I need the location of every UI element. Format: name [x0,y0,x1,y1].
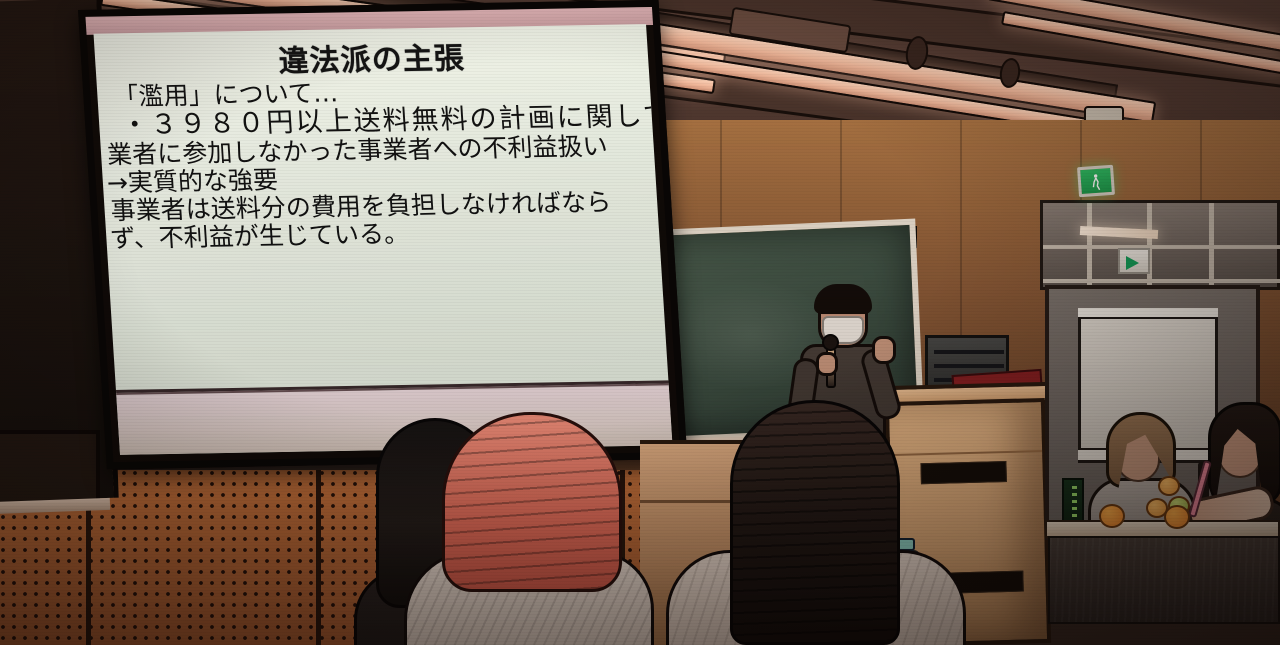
presenter-hair [814,284,872,314]
slide-surface: 違法派の主張 「濫用」について… ・３９８０円以上送料無料の計画に関して事 業者… [94,24,673,455]
orange-fruit-icon [1099,504,1125,528]
orange-fruit-icon [1158,476,1180,496]
directional-arrow-icon [1126,256,1139,270]
emergency-exit-sign [1077,165,1115,197]
presenter-left-hand [816,352,838,376]
projection-screen[interactable]: 違法派の主張 「濫用」について… ・３９８０円以上送料無料の計画に関して事 業者… [78,0,687,469]
presenter-right-hand [872,336,896,364]
classroom-scene: 違法派の主張 「濫用」について… ・３９８０円以上送料無料の計画に関して事 業者… [0,0,1280,645]
flipchart-top-clamp [1078,308,1218,319]
orange-fruit-icon [1164,505,1190,529]
microphone-icon [822,334,839,351]
audience-hair [730,400,900,645]
audience-hair [442,412,622,592]
wall-shelf-unit [1040,200,1280,290]
beverage-carton [1062,478,1084,524]
audience-pink-hair [420,412,650,645]
carton-label [1072,486,1077,518]
running-man-icon [1092,174,1101,192]
exit-direction-sign [1118,248,1150,274]
panelist-table-skirt [1048,536,1280,624]
audience-long-dark-hair [690,400,950,645]
slide-content: 違法派の主張 「濫用」について… ・３９８０円以上送料無料の計画に関して事 業者… [94,24,669,391]
